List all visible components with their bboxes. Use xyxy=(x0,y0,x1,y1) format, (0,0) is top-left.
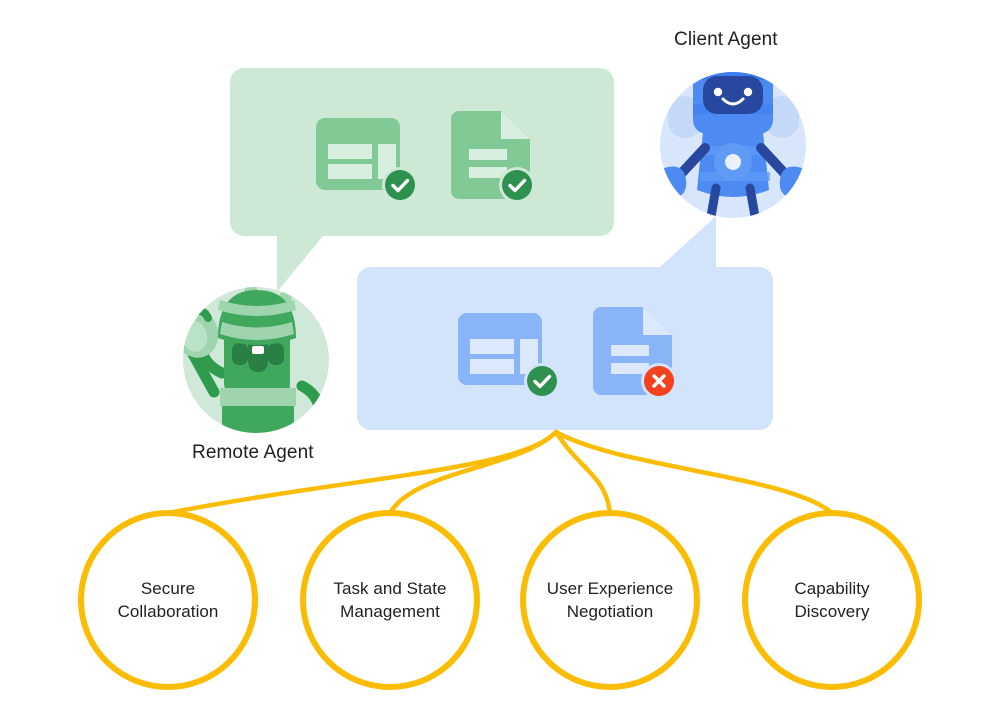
remote-agent-label: Remote Agent xyxy=(192,441,314,465)
capability-label-line: User Experience xyxy=(520,577,700,600)
check-badge xyxy=(382,167,418,203)
capability-label-line: Secure xyxy=(78,577,258,600)
cross-badge xyxy=(641,363,677,399)
diagram-canvas: Client Agent Remote Agent Secure Collabo… xyxy=(0,0,1000,711)
capability-label-secure-collaboration: Secure Collaboration xyxy=(78,577,258,623)
capability-label-user-experience-negotiation: User Experience Negotiation xyxy=(520,577,700,623)
capability-label-task-and-state-management: Task and State Management xyxy=(300,577,480,623)
remote-agent-avatar xyxy=(167,282,329,436)
client-agent-avatar xyxy=(652,66,814,222)
capability-label-capability-discovery: Capability Discovery xyxy=(742,577,922,623)
check-badge xyxy=(524,363,560,399)
client-agent-bubble xyxy=(357,216,773,430)
capability-label-line: Collaboration xyxy=(78,600,258,623)
capability-label-line: Negotiation xyxy=(520,600,700,623)
remote-agent-bubble xyxy=(230,68,614,292)
capability-label-line: Management xyxy=(300,600,480,623)
capability-label-line: Task and State xyxy=(300,577,480,600)
check-badge xyxy=(499,167,535,203)
client-agent-label: Client Agent xyxy=(674,28,778,52)
capability-label-line: Discovery xyxy=(742,600,922,623)
capability-label-line: Capability xyxy=(742,577,922,600)
